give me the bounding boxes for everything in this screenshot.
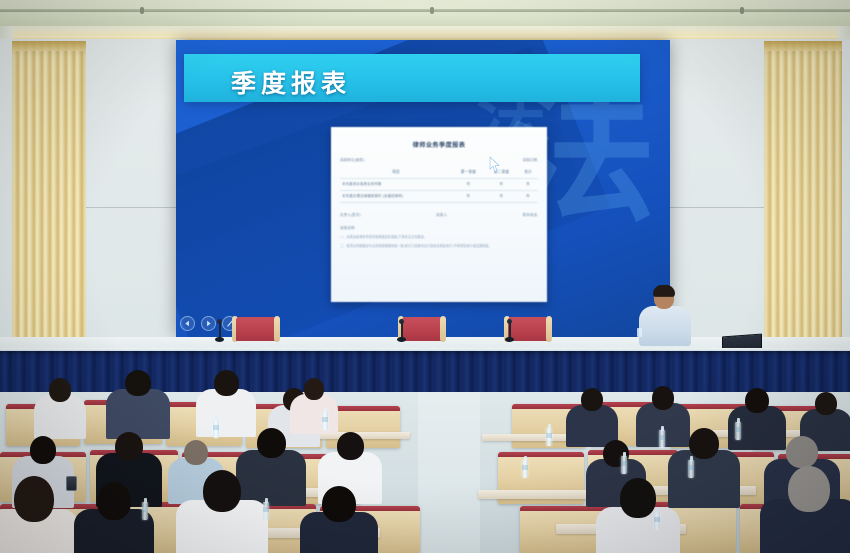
person-head [581, 388, 603, 411]
table-header-cell: 合计 [518, 167, 538, 179]
audience-person [760, 466, 850, 553]
table-cell-label: 本年度办理法律援助案件 (含值班律师) [340, 191, 452, 203]
table-cell-label: 本年度承办各类业务件数 [340, 179, 452, 191]
table-cell: 件 [518, 179, 538, 191]
document-note: 一、本表由各律师事务所按季度如实填报,于季末五日内报送。 [340, 235, 538, 240]
person-head [745, 388, 769, 413]
water-bottle [213, 420, 219, 438]
table-header-row: 项目 第一季度 第二季度 合计 [340, 167, 538, 179]
table-header-cell: 项目 [340, 167, 452, 179]
rail-hook [140, 7, 144, 14]
document-table: 项目 第一季度 第二季度 合计 本年度承办各类业务件数 件 件 件 [340, 167, 538, 203]
microphone [400, 322, 403, 343]
microphone [508, 322, 511, 343]
person-head [304, 378, 324, 400]
person-head [30, 436, 56, 464]
table-cell: 件 [518, 191, 538, 203]
curtain-left [12, 41, 86, 359]
document-meta-right: 填报日期: [523, 158, 538, 163]
person-head [786, 436, 818, 468]
document-page: 律师业务季度报表 填报单位(盖章): 填报日期: 项目 第一季度 第二季度 合计 [331, 127, 547, 302]
audience-person [596, 478, 680, 553]
water-cup [637, 328, 642, 337]
audience-person [300, 486, 378, 553]
presenter-laptop [676, 311, 732, 353]
document-meta: 填报单位(盖章): 填报日期: [340, 158, 538, 163]
document-footer-right: 联系电话: [523, 213, 538, 218]
table-cell: 件 [452, 191, 485, 203]
document-notes-title: 填表说明: [340, 226, 538, 231]
slide-controls[interactable] [180, 316, 237, 331]
water-bottle [621, 456, 627, 474]
microphone [218, 322, 221, 343]
projection-screen[interactable]: 法 法 季度报表 律师业务季度报表 填报单位(盖章): 填报日期: 项目 第一季… [176, 40, 670, 337]
water-bottle [659, 430, 665, 448]
person-head [788, 466, 830, 512]
person-head [689, 428, 719, 459]
document-footer-center: 填表人: [436, 213, 448, 218]
person-head [257, 428, 286, 458]
rail-hook [430, 7, 434, 14]
water-bottle [142, 502, 148, 520]
water-bottle [522, 460, 528, 478]
document-title: 律师业务季度报表 [331, 140, 547, 149]
person-head [322, 486, 356, 522]
person-head [815, 392, 837, 415]
person-head [184, 440, 208, 465]
mouse-pointer-icon [489, 157, 501, 178]
glasses-icon [655, 296, 673, 301]
stage-chair-1 [232, 317, 280, 343]
person-head [652, 386, 674, 410]
table-row: 本年度办理法律援助案件 (含值班律师) 件 件 件 [340, 191, 538, 203]
document-note: 二、各项业务数据应与业务档案管理系统一致,统计口径按司法行政机关规定执行,不得重… [340, 244, 538, 249]
person-head [125, 370, 151, 396]
person-head [203, 470, 241, 512]
center-aisle [418, 392, 480, 553]
slide-background: 法 法 季度报表 律师业务季度报表 填报单位(盖章): 填报日期: 项目 第一季… [176, 40, 670, 337]
water-bottle [546, 428, 552, 446]
table-cell: 件 [485, 191, 518, 203]
person-head [49, 378, 71, 402]
document-footer-left: 负责人(签字): [340, 213, 361, 218]
rewind-icon[interactable] [180, 316, 195, 331]
water-bottle [263, 502, 269, 520]
person-head [97, 482, 131, 520]
slide-title: 季度报表 [231, 64, 351, 100]
water-bottle [688, 460, 694, 478]
water-bottle [735, 422, 741, 440]
person-head [337, 432, 364, 460]
table-row: 本年度承办各类业务件数 件 件 件 [340, 179, 538, 191]
table-header-cell: 第一季度 [452, 167, 485, 179]
rail-hook [740, 7, 744, 14]
audience-desk [478, 490, 598, 499]
play-icon[interactable] [201, 316, 216, 331]
table-cell: 件 [485, 179, 518, 191]
curtain-right [764, 41, 842, 359]
document-footer: 负责人(签字): 填表人: 联系电话: [340, 213, 538, 218]
person-head [214, 370, 239, 396]
ceiling [0, 0, 850, 26]
person-head [620, 478, 656, 518]
curtain-rail [0, 9, 850, 12]
conference-hall-photo: 法 法 季度报表 律师业务季度报表 填报单位(盖章): 填报日期: 项目 第一季… [0, 0, 850, 553]
person-head [115, 432, 143, 461]
audience-person [176, 470, 268, 553]
document-meta-left: 填报单位(盖章): [340, 158, 365, 163]
person-head [14, 476, 54, 522]
water-bottle [654, 512, 660, 530]
smartphone [66, 476, 77, 491]
table-cell: 件 [452, 179, 485, 191]
water-bottle [322, 412, 328, 430]
